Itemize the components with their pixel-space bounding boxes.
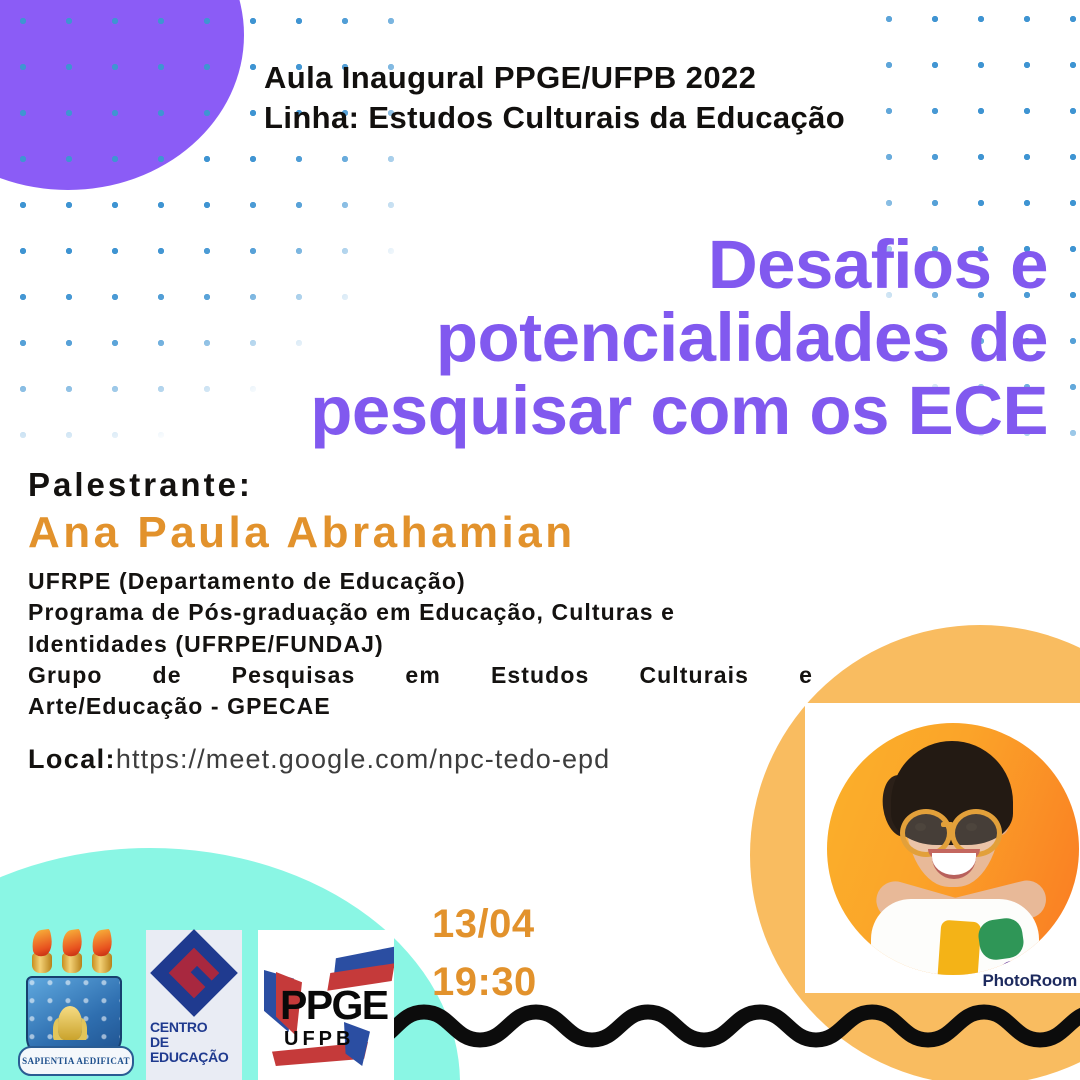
crest-motto-ribbon: SAPIENTIA AEDIFICAT	[18, 1046, 134, 1076]
meeting-location-row: Local:https://meet.google.com/npc-tedo-e…	[28, 744, 803, 775]
centro-de-educacao-logo: CENTRO DE EDUCAÇÃO	[146, 930, 242, 1080]
event-poster: Aula Inaugural PPGE/UFPB 2022 Linha: Est…	[0, 0, 1080, 1080]
torch-icon	[62, 930, 84, 973]
crest-fleur-de-lis-icon	[58, 1006, 82, 1040]
speaker-label: Palestrante:	[28, 466, 253, 504]
title-line-3: pesquisar com os ECE	[258, 374, 1048, 447]
speaker-affiliations: UFRPE (Departamento de Educação) Program…	[28, 566, 813, 722]
speaker-name: Ana Paula Abrahamian	[28, 508, 576, 558]
centro-diamond-icon	[150, 929, 238, 1017]
meeting-link[interactable]: https://meet.google.com/npc-tedo-epd	[116, 744, 610, 774]
affiliation-line: Programa de Pós-graduação em Educação, C…	[28, 597, 813, 628]
affiliation-line: Arte/Educação - GPECAE	[28, 691, 813, 722]
portrait-illustration	[827, 723, 1079, 975]
centro-logo-line-2: DE EDUCAÇÃO	[150, 1035, 242, 1065]
photoroom-watermark: PhotoRoom	[982, 971, 1077, 991]
torch-icon	[32, 930, 54, 973]
header-line-1: Aula Inaugural PPGE/UFPB 2022	[264, 58, 1024, 98]
centro-logo-line-1: CENTRO	[150, 1020, 242, 1035]
header-line-2: Linha: Estudos Culturais da Educação	[264, 98, 1024, 138]
affiliation-line: Grupo de Pesquisas em Estudos Culturais …	[28, 660, 813, 691]
local-label: Local:	[28, 744, 116, 774]
ppge-logo-word: PPGE	[280, 982, 388, 1029]
poster-header: Aula Inaugural PPGE/UFPB 2022 Linha: Est…	[264, 58, 1024, 137]
torch-icon	[92, 930, 114, 973]
centro-logo-text: CENTRO DE EDUCAÇÃO	[146, 1020, 242, 1064]
ppge-logo-sub: UFPB	[284, 1028, 354, 1051]
ufpb-crest-logo: SAPIENTIA AEDIFICAT	[18, 930, 130, 1080]
purple-circle-decoration	[0, 0, 244, 190]
portrait-scarf-yellow	[937, 920, 982, 975]
event-schedule: 13/04 19:30	[432, 895, 537, 1011]
ppge-ufpb-logo: PPGE UFPB	[258, 930, 394, 1080]
speaker-photo	[827, 723, 1079, 975]
logo-strip: SAPIENTIA AEDIFICAT CENTRO DE EDUCAÇÃO P…	[18, 930, 394, 1080]
affiliation-line: Identidades (UFRPE/FUNDAJ)	[28, 629, 813, 660]
crest-torches-icon	[32, 930, 114, 973]
speaker-photo-frame: PhotoRoom	[805, 703, 1080, 993]
wavy-line-decoration	[372, 998, 1080, 1056]
portrait-glasses-bridge	[941, 822, 953, 827]
page-title: Desafios e potencialidades de pesquisar …	[258, 228, 1048, 447]
affiliation-line: UFRPE (Departamento de Educação)	[28, 566, 813, 597]
title-line-2: potencialidades de	[258, 301, 1048, 374]
event-date: 13/04	[432, 895, 537, 953]
title-line-1: Desafios e	[258, 228, 1048, 301]
